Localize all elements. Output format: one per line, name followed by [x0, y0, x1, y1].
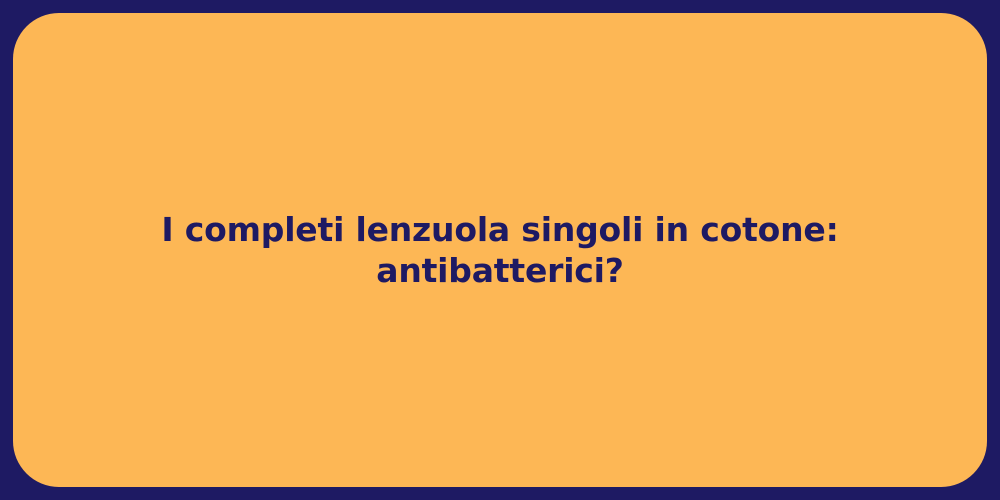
banner-frame: I completi lenzuola singoli in cotone: a… [0, 0, 1000, 500]
banner-panel: I completi lenzuola singoli in cotone: a… [13, 13, 987, 487]
banner-headline: I completi lenzuola singoli in cotone: a… [53, 209, 947, 292]
